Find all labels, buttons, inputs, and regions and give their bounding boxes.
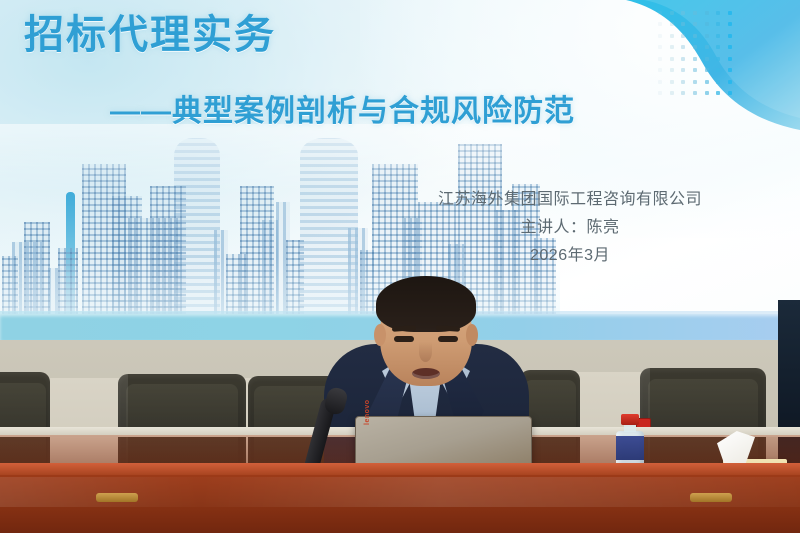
grid-dot	[681, 91, 685, 95]
grid-dot	[716, 11, 720, 15]
grid-dot	[658, 34, 662, 38]
grid-dot	[728, 91, 732, 95]
meeting-room-photo: 招标代理实务 ——典型案例剖析与合规风险防范 江苏海外集团国际工程咨询有限公司 …	[0, 0, 800, 533]
conference-desk	[0, 463, 800, 533]
grid-dot	[693, 68, 697, 72]
grid-dot	[728, 22, 732, 26]
ear-left	[374, 324, 386, 346]
grid-dot	[670, 22, 674, 26]
desk-hardware-left	[96, 493, 138, 502]
grid-dot	[681, 22, 685, 26]
slide-date: 2026年3月	[400, 242, 740, 270]
grid-dot	[658, 11, 662, 15]
grid-dot	[693, 57, 697, 61]
grid-dot	[728, 80, 732, 84]
grid-dot	[658, 68, 662, 72]
slide-title: 招标代理实务	[24, 12, 276, 58]
grid-dot	[670, 80, 674, 84]
desk-top-edge	[0, 463, 800, 475]
grid-dot	[681, 45, 685, 49]
grid-dot	[658, 57, 662, 61]
grid-dot	[705, 11, 709, 15]
grid-dot	[681, 34, 685, 38]
desk-hardware-right	[690, 493, 732, 502]
grid-dot	[705, 22, 709, 26]
grid-dot	[728, 68, 732, 72]
grid-dot	[705, 57, 709, 61]
grid-dot	[658, 91, 662, 95]
grid-dot	[705, 34, 709, 38]
desk-sheen	[0, 477, 800, 507]
grid-dot	[705, 91, 709, 95]
grid-dot	[705, 68, 709, 72]
grid-dot	[681, 68, 685, 72]
dot-grid-decoration	[655, 8, 735, 98]
grid-dot	[705, 80, 709, 84]
slide-meta-block: 江苏海外集团国际工程咨询有限公司 主讲人：陈亮 2026年3月	[400, 186, 740, 270]
grid-dot	[658, 80, 662, 84]
nose	[419, 342, 432, 362]
grid-dot	[693, 34, 697, 38]
grid-dot	[693, 11, 697, 15]
slide-subtitle: ——典型案例剖析与合规风险防范	[110, 86, 575, 130]
grid-dot	[670, 11, 674, 15]
bottle-cap	[621, 414, 639, 425]
ear-right	[466, 324, 478, 346]
grid-dot	[728, 57, 732, 61]
grid-dot	[716, 57, 720, 61]
lenovo-logo: lenovo	[364, 399, 371, 425]
grid-dot	[693, 22, 697, 26]
slide-organization: 江苏海外集团国际工程咨询有限公司	[400, 186, 740, 214]
grid-dot	[728, 45, 732, 49]
eye-right	[438, 336, 458, 342]
grid-dot	[693, 45, 697, 49]
grid-dot	[681, 80, 685, 84]
grid-dot	[728, 11, 732, 15]
eye-left	[394, 336, 414, 342]
grid-dot	[716, 91, 720, 95]
grid-dot	[681, 11, 685, 15]
presenter-hair	[376, 276, 476, 332]
grid-dot	[670, 57, 674, 61]
grid-dot	[716, 34, 720, 38]
bottle-neck	[624, 424, 636, 432]
mouth	[412, 368, 440, 379]
grid-dot	[693, 91, 697, 95]
grid-dot	[681, 57, 685, 61]
grid-dot	[670, 45, 674, 49]
grid-dot	[670, 91, 674, 95]
grid-dot	[705, 45, 709, 49]
grid-dot	[728, 34, 732, 38]
grid-dot	[716, 68, 720, 72]
grid-dot	[716, 22, 720, 26]
grid-dot	[670, 68, 674, 72]
bottle-label-upper	[616, 436, 644, 460]
slide-presenter: 主讲人：陈亮	[400, 214, 740, 242]
grid-dot	[716, 45, 720, 49]
grid-dot	[658, 22, 662, 26]
grid-dot	[658, 45, 662, 49]
grid-dot	[670, 34, 674, 38]
grid-dot	[693, 80, 697, 84]
grid-dot	[716, 80, 720, 84]
